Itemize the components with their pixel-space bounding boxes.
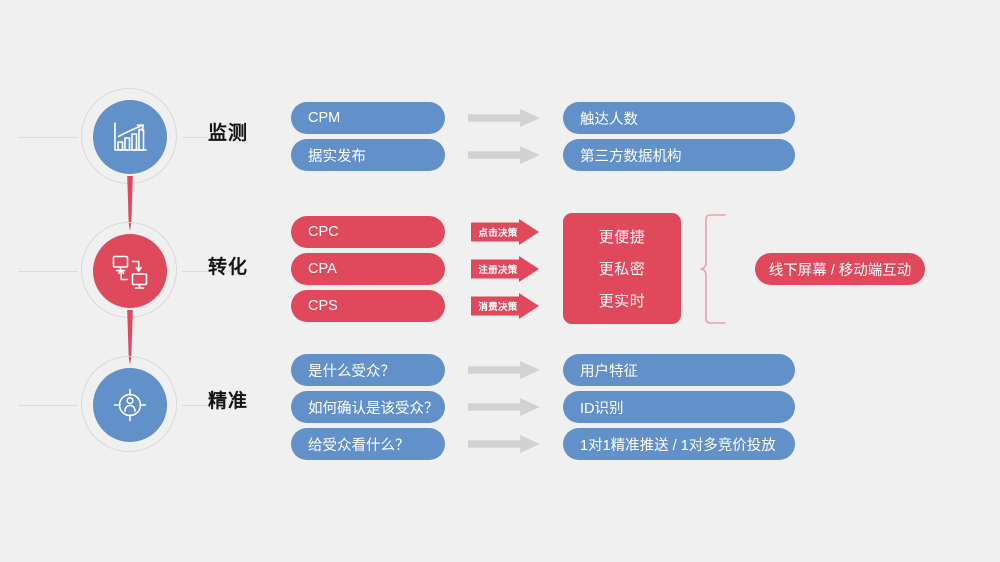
decision-arrow-register: 注册决策 (471, 256, 539, 282)
benefit-item-realtime: 更实时 (599, 290, 646, 311)
node-conversion[interactable] (93, 234, 167, 308)
input-pill-show-what[interactable]: 给受众看什么？ (291, 428, 445, 460)
benefits-box[interactable]: 更便捷 更私密 更实时 (563, 213, 681, 324)
decision-arrow-purchase: 消费决策 (471, 293, 539, 319)
output-pill-third-party[interactable]: 第三方数据机构 (563, 139, 795, 171)
output-pill-targeted-delivery[interactable]: 1对1精准推送 / 1对多竞价投放 (563, 428, 795, 460)
rail-line-left-2 (18, 271, 78, 272)
node-precision[interactable] (93, 368, 167, 442)
output-pill-id-recognition[interactable]: ID识别 (563, 391, 795, 423)
input-pill-cps[interactable]: CPS (291, 290, 445, 322)
decision-arrow-click: 点击决策 (471, 219, 539, 245)
grouping-brace (700, 214, 726, 324)
decision-arrow-label: 注册决策 (471, 256, 525, 282)
row-label-precision: 精准 (208, 386, 248, 413)
input-pill-which-audience[interactable]: 是什么受众？ (291, 354, 445, 386)
decision-arrow-label: 消费决策 (471, 293, 525, 319)
input-pill-cpc[interactable]: CPC (291, 216, 445, 248)
two-monitors-exchange-icon (110, 253, 150, 289)
input-pill-cpa[interactable]: CPA (291, 253, 445, 285)
node-disc (93, 234, 167, 308)
flow-arrow-3c (468, 435, 540, 453)
input-pill-publish[interactable]: 据实发布 (291, 139, 445, 171)
flow-arrow-1b (468, 146, 540, 164)
offline-interaction-pill[interactable]: 线下屏幕 / 移动端互动 (755, 253, 925, 285)
decision-arrow-label: 点击决策 (471, 219, 525, 245)
node-disc (93, 368, 167, 442)
rail-line-left-1 (18, 137, 78, 138)
rail-line-right-1 (182, 137, 208, 138)
row-label-monitor: 监测 (208, 118, 248, 145)
rail-line-right-3 (182, 405, 208, 406)
output-pill-user-profile[interactable]: 用户特征 (563, 354, 795, 386)
flow-arrow-1a (468, 109, 540, 127)
rail-line-left-3 (18, 405, 78, 406)
input-pill-cpm[interactable]: CPM (291, 102, 445, 134)
bar-chart-growth-icon (110, 120, 150, 154)
node-disc (93, 100, 167, 174)
rail-line-right-2 (182, 271, 208, 272)
node-monitor[interactable] (93, 100, 167, 174)
flow-arrow-3b (468, 398, 540, 416)
benefit-item-private: 更私密 (599, 258, 646, 279)
row-label-conversion: 转化 (208, 252, 248, 279)
diagram-canvas: 监测 转化 精准 CPM 据实发布 触达人数 第三方数据机构 CPC CPA C… (0, 0, 1000, 562)
target-person-icon (111, 386, 149, 424)
benefit-item-convenient: 更便捷 (599, 226, 646, 247)
output-pill-reach[interactable]: 触达人数 (563, 102, 795, 134)
input-pill-confirm-audience[interactable]: 如何确认是该受众？ (291, 391, 445, 423)
flow-arrow-3a (468, 361, 540, 379)
